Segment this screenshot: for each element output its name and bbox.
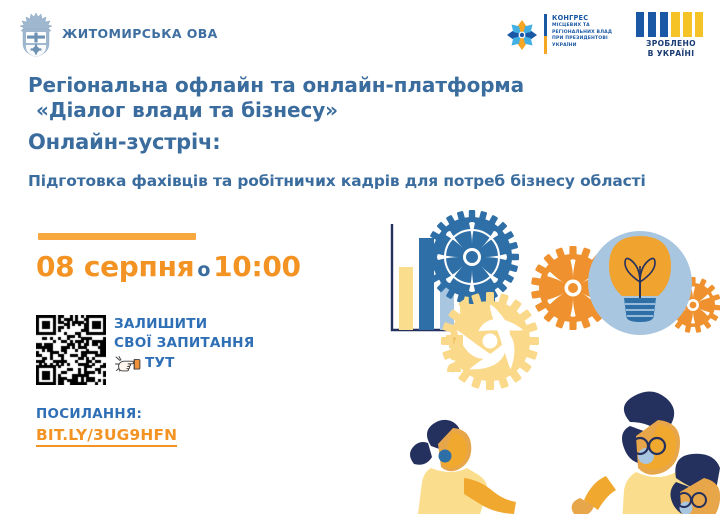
link-label: ПОСИЛАННЯ: [36,407,286,422]
gear-blue-icon [425,210,519,304]
illustration-svg: ? [368,210,720,514]
made-in-ukraine-line-2: В УКРАЇНІ [632,49,710,59]
poster-header: ЖИТОМИРСЬКА ОВА [0,0,720,66]
congress-logo-divider [544,14,547,54]
event-datetime: 08 серпняо10:00 [36,250,301,283]
oblast-name-label: ЖИТОМИРСЬКА ОВА [62,26,218,41]
made-in-ukraine-bars-icon [636,12,706,37]
qr-line-1: ЗАЛИШИТИ [114,315,294,334]
page-title: Регіональна офлайн та онлайн-платформа «… [28,73,568,122]
orange-accent-bar [38,233,196,240]
person-right-icon [668,454,720,514]
made-in-ukraine-logo: ЗРОБЛЕНО В УКРАЇНІ [632,12,710,56]
congress-line-1: КОНГРЕС [552,14,616,23]
questions-qr-block: ЗАЛИШИТИ СВОЇ ЗАПИТАННЯ ТУТ [36,313,286,389]
pointing-hand-icon [114,354,144,374]
gear-yellow-large-icon: ? [441,292,539,390]
person-left-icon [410,420,516,514]
zhytomyr-coat-of-arms-icon [15,11,57,57]
event-date: 08 серпня [36,250,194,283]
qr-code-icon[interactable] [36,315,106,385]
poster-canvas: ЖИТОМИРСЬКА ОВА [0,0,720,514]
event-link-url[interactable]: BIT.LY/3UG9HFN [36,426,177,447]
lightbulb-icon [588,231,692,335]
made-in-ukraine-text: ЗРОБЛЕНО В УКРАЇНІ [632,39,710,58]
event-time: 10:00 [213,250,301,283]
title-line-1: Регіональна офлайн та онлайн-платформа [28,73,524,97]
congress-diamond-mark-icon [503,16,541,54]
qr-line-3: ТУТ [145,354,175,373]
questions-call-to-action: ЗАЛИШИТИ СВОЇ ЗАПИТАННЯ ТУТ [114,315,294,374]
event-type-subtitle: Онлайн-зустріч: [28,130,220,154]
congress-line-5: УКРАЇНИ [552,43,616,50]
event-at-word: о [194,259,213,281]
qr-line-2: СВОЇ ЗАПИТАННЯ [114,334,294,353]
link-block: ПОСИЛАННЯ: BIT.LY/3UG9HFN [36,407,286,447]
made-in-ukraine-line-1: ЗРОБЛЕНО [632,39,710,49]
qr-line-3-row: ТУТ [114,354,294,374]
team-meeting-with-charts-gears-lightbulb-illustration: ? [368,210,720,514]
congress-line-4: ПРИ ПРЕЗИДЕНТОВІ [552,36,616,43]
congress-logo-text: КОНГРЕС МІСЦЕВИХ ТА РЕГІОНАЛЬНИХ ВЛАД ПР… [552,14,616,49]
svg-text:?: ? [452,337,456,346]
event-topic-text: Підготовка фахівців та робітничих кадрів… [28,172,673,190]
congress-logo: КОНГРЕС МІСЦЕВИХ ТА РЕГІОНАЛЬНИХ ВЛАД ПР… [503,12,613,56]
title-line-2: «Діалог влади та бізнесу» [28,98,568,123]
